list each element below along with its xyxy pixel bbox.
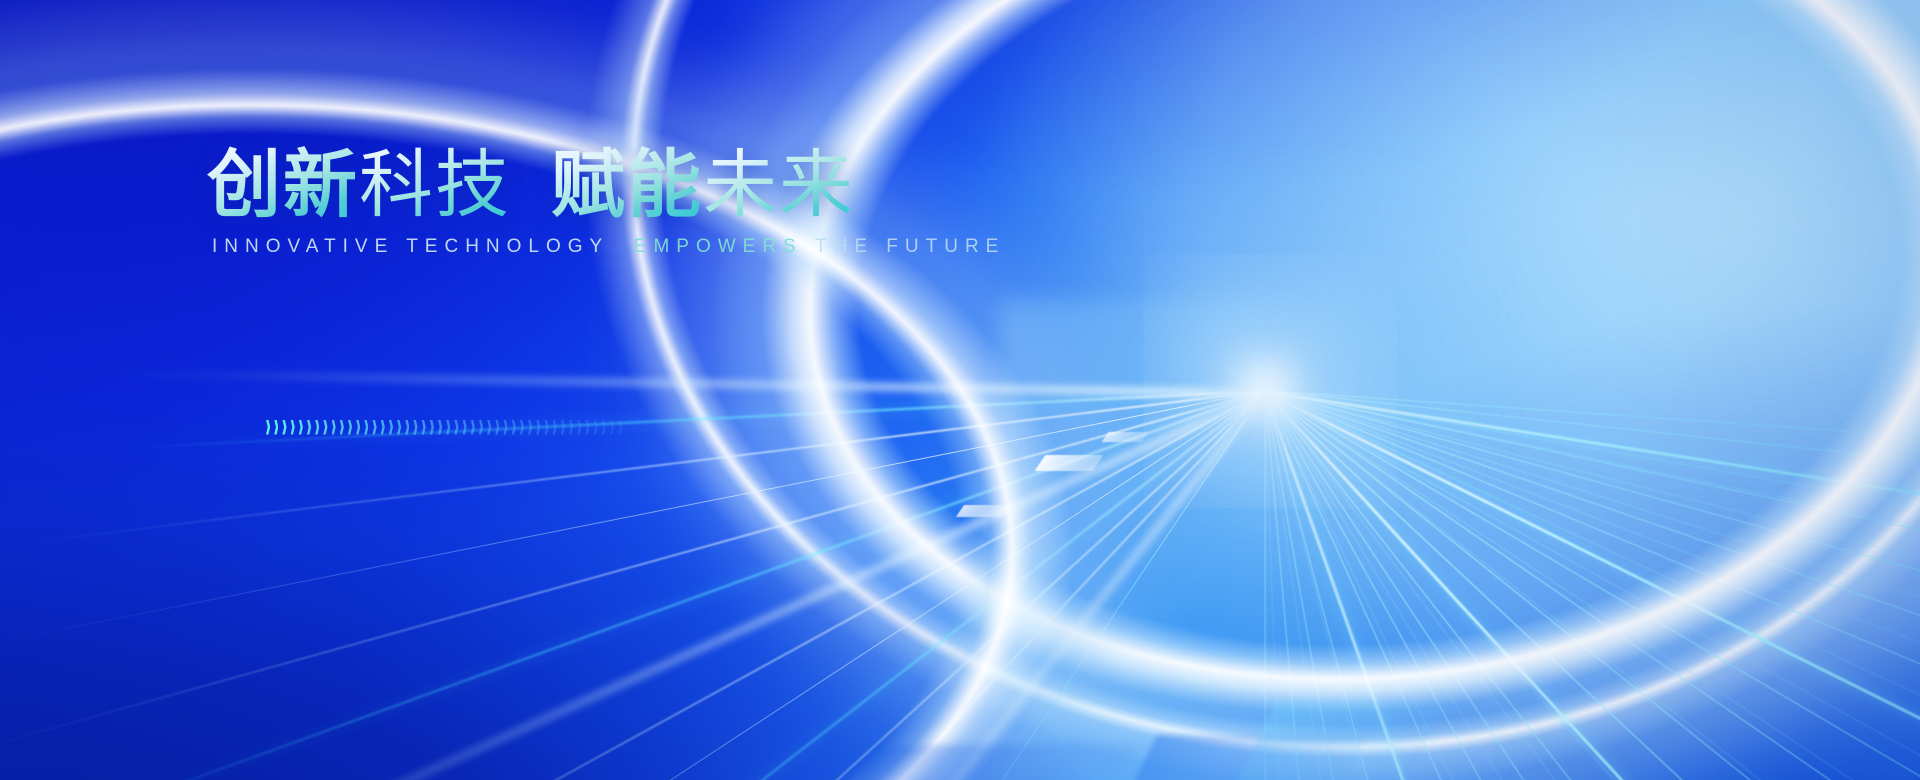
chevron-right-icon [528, 420, 532, 435]
chevron-right-icon [438, 420, 442, 435]
chevron-right-icon [553, 420, 557, 435]
title-segment-4: 未来 [703, 143, 855, 226]
chevron-right-icon [356, 420, 360, 435]
chevron-right-icon [479, 420, 483, 435]
chevron-right-icon [495, 420, 499, 435]
chevron-right-icon [561, 420, 565, 435]
chevron-right-icon [291, 420, 295, 435]
subtitle-part-3: THE FUTURE [815, 236, 1005, 257]
chevron-strip [266, 417, 626, 437]
chevron-right-icon [446, 420, 450, 435]
subtitle-sep-1 [609, 236, 634, 257]
chevron-right-icon [422, 420, 426, 435]
chevron-right-icon [618, 420, 622, 435]
chevron-right-icon [594, 420, 598, 435]
chevron-right-icon [274, 420, 278, 435]
chevron-right-icon [405, 420, 409, 435]
chevron-right-icon [520, 420, 524, 435]
chevron-right-icon [340, 420, 344, 435]
chevron-right-icon [348, 420, 352, 435]
page-subtitle: INNOVATIVE TECHNOLOGY EMPOWERS THE FUTUR… [212, 236, 1005, 258]
chevron-right-icon [463, 420, 467, 435]
chevron-right-icon [299, 420, 303, 435]
chevron-right-icon [487, 420, 491, 435]
chevron-right-icon [503, 420, 507, 435]
chevron-right-icon [569, 420, 573, 435]
chevron-right-icon [397, 420, 401, 435]
chevron-right-icon [364, 420, 368, 435]
chevron-right-icon [332, 420, 336, 435]
chevron-right-icon [307, 420, 311, 435]
page-title: 创新科技赋能未来 [207, 148, 855, 222]
title-segment-2: 科技 [359, 143, 511, 226]
chevron-right-icon [544, 420, 548, 435]
hero-banner: 创新科技赋能未来 INNOVATIVE TECHNOLOGY EMPOWERS … [0, 0, 1920, 780]
chevron-right-icon [413, 420, 417, 435]
chevron-right-icon [282, 420, 286, 435]
chevron-right-icon [266, 420, 270, 435]
chevron-right-icon [536, 420, 540, 435]
subtitle-part-2: EMPOWERS [634, 236, 803, 257]
subtitle-sep-2 [803, 236, 815, 257]
headline-block: 创新科技赋能未来 INNOVATIVE TECHNOLOGY EMPOWERS … [0, 0, 1920, 780]
chevron-right-icon [454, 420, 458, 435]
chevron-right-icon [389, 420, 393, 435]
chevron-right-icon [381, 420, 385, 435]
chevron-right-icon [471, 420, 475, 435]
chevron-right-icon [512, 420, 516, 435]
chevron-right-icon [372, 420, 376, 435]
chevron-right-icon [585, 420, 589, 435]
chevron-right-icon [577, 420, 581, 435]
chevron-right-icon [323, 420, 327, 435]
chevron-right-icon [602, 420, 606, 435]
title-segment-1: 创新 [207, 143, 359, 226]
chevron-right-icon [315, 420, 319, 435]
chevron-right-icon [430, 420, 434, 435]
chevron-right-icon [610, 420, 614, 435]
subtitle-part-1: INNOVATIVE TECHNOLOGY [212, 236, 609, 257]
title-segment-3: 赋能 [551, 143, 703, 226]
